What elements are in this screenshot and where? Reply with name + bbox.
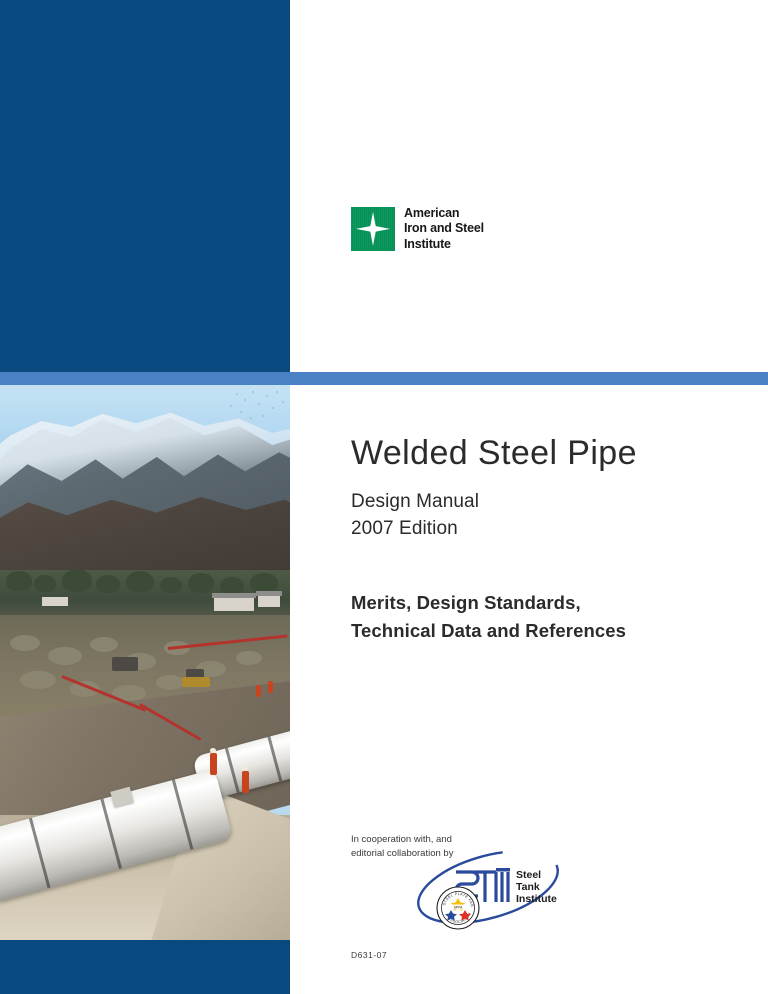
aisi-name-line-1: American — [404, 206, 484, 221]
photo-worker — [210, 753, 217, 775]
aisi-name-line-3: Institute — [404, 237, 484, 252]
document-cover: American Iron and Steel Institute Welded… — [0, 0, 768, 994]
sti-name-line-2: Tank — [516, 881, 540, 893]
aisi-wordmark: American Iron and Steel Institute — [404, 206, 484, 252]
document-title: Welded Steel Pipe — [351, 436, 751, 472]
horizontal-blue-band — [0, 372, 768, 385]
sti-name-line-3: Institute — [516, 893, 557, 905]
photo-worker — [242, 771, 249, 793]
aisi-star-icon — [351, 207, 395, 251]
sti-swoosh-icon — [410, 840, 566, 935]
photo-truck — [112, 657, 138, 671]
description-line-1: Merits, Design Standards, — [351, 589, 751, 617]
photo-excavator — [182, 677, 210, 687]
top-left-blue-panel — [0, 0, 290, 372]
document-description: Merits, Design Standards, Technical Data… — [351, 589, 751, 645]
subtitle-line-2: 2007 Edition — [351, 515, 751, 543]
title-block: Welded Steel Pipe Design Manual 2007 Edi… — [351, 436, 751, 543]
description-line-2: Technical Data and References — [351, 617, 751, 645]
document-subtitle: Design Manual 2007 Edition — [351, 488, 751, 543]
spfa-seal-icon: STEEL PLATE FABRICATORS ASSOCIATION SPFA — [437, 887, 479, 929]
sti-name-line-1: Steel — [516, 869, 541, 881]
photo-building — [214, 597, 254, 611]
subtitle-line-1: Design Manual — [351, 488, 751, 516]
aisi-logo: American Iron and Steel Institute — [351, 206, 484, 252]
document-code: D631-07 — [351, 950, 387, 960]
sti-logo: Steel Tank Institute STEEL PLATE FABRICA… — [410, 840, 570, 935]
seal-center-label: SPFA — [454, 906, 463, 910]
aisi-name-line-2: Iron and Steel — [404, 221, 484, 236]
cover-photograph — [0, 385, 290, 940]
bottom-left-blue-panel — [0, 940, 290, 994]
